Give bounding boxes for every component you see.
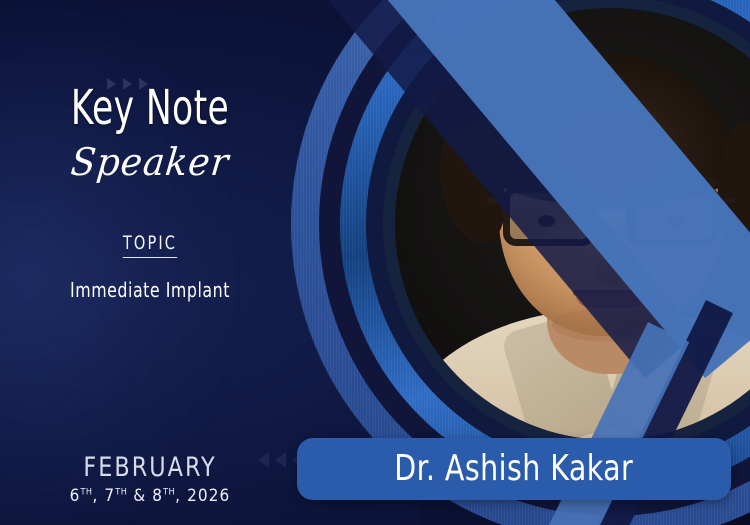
topic-label: TOPIC — [23, 232, 278, 254]
day-2: 7 — [104, 486, 115, 506]
event-year: 2026 — [187, 486, 230, 506]
date-sep-3: , — [175, 486, 187, 506]
triangle-left-icon — [258, 452, 269, 468]
topic-value: Immediate Implant — [18, 278, 282, 302]
poster-copy-block: Key Note Speaker TOPIC Immediate Implant… — [0, 0, 300, 525]
event-month: FEBRUARY — [12, 452, 288, 483]
event-dates: 6TH, 7TH & 8TH, 2026 — [0, 486, 300, 506]
day-3: 8 — [152, 486, 163, 506]
triangle-left-icon — [275, 452, 286, 468]
topic-label-text: TOPIC — [123, 232, 177, 258]
date-sep-2: & — [127, 486, 152, 506]
heading-speaker: Speaker — [5, 140, 295, 186]
speaker-name-banner: Dr. Ashish Kakar — [297, 438, 731, 500]
speaker-name: Dr. Ashish Kakar — [395, 451, 634, 487]
date-sep-1: , — [92, 486, 104, 506]
keynote-speaker-poster: Key Note Speaker TOPIC Immediate Implant… — [0, 0, 750, 525]
day-3-ordinal: TH — [163, 487, 175, 497]
day-2-ordinal: TH — [115, 487, 127, 497]
day-1: 6 — [70, 486, 81, 506]
day-1-ordinal: TH — [80, 487, 92, 497]
heading-key-note: Key Note — [30, 84, 270, 132]
